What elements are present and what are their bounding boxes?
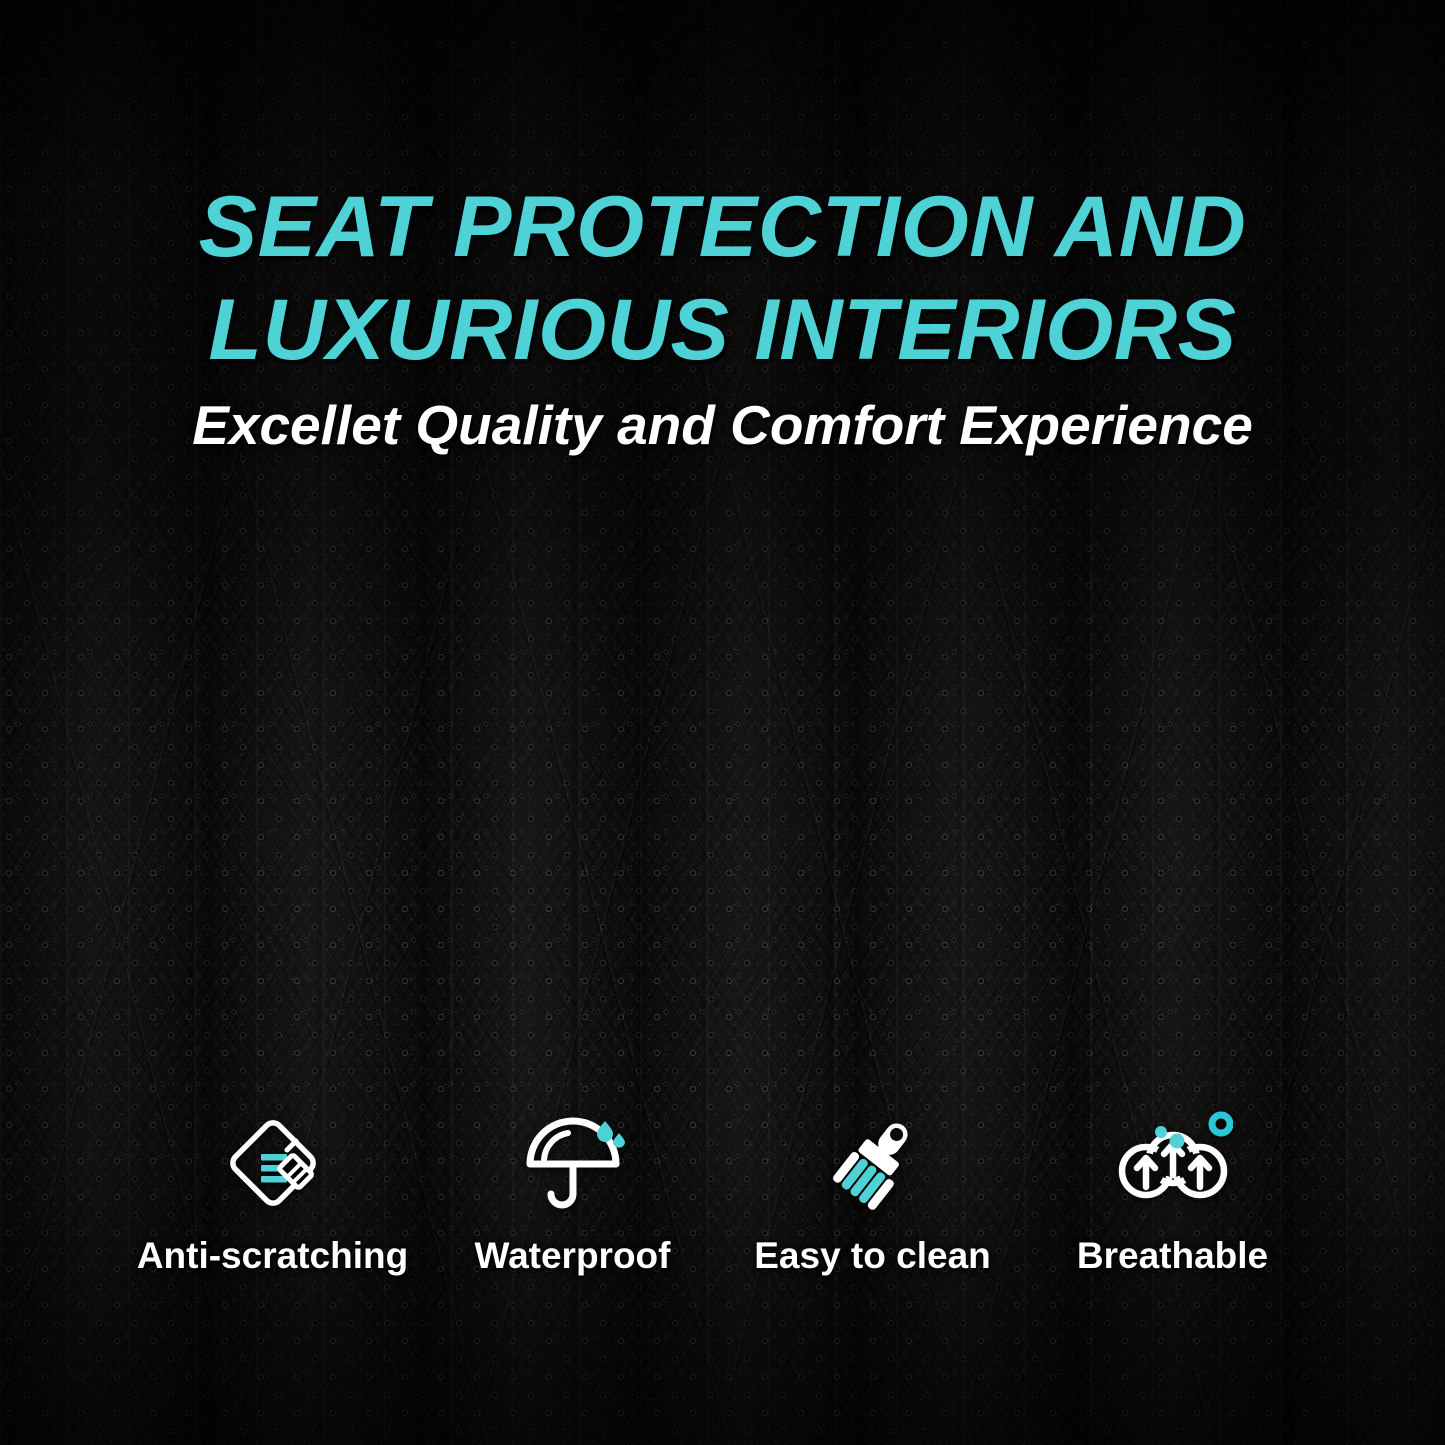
cleaning-brush-icon bbox=[817, 1105, 929, 1220]
feature-item-breathable: Breathable bbox=[1023, 1105, 1323, 1278]
feature-label: Anti-scratching bbox=[137, 1234, 408, 1278]
product-feature-banner: SEAT PROTECTION AND LUXURIOUS INTERIORS … bbox=[0, 0, 1445, 1445]
feature-label: Waterproof bbox=[475, 1234, 671, 1278]
headline-block: SEAT PROTECTION AND LUXURIOUS INTERIORS bbox=[0, 176, 1445, 382]
subheadline: Excellet Quality and Comfort Experience bbox=[0, 392, 1445, 458]
feature-item-easy-to-clean: Easy to clean bbox=[723, 1105, 1023, 1278]
airflow-clouds-icon bbox=[1113, 1105, 1233, 1220]
headline-line-1: SEAT PROTECTION AND bbox=[0, 176, 1445, 279]
feature-label: Breathable bbox=[1077, 1234, 1268, 1278]
scratch-resistant-icon bbox=[217, 1105, 329, 1220]
umbrella-raindrops-icon bbox=[517, 1105, 629, 1220]
feature-item-anti-scratching: Anti-scratching bbox=[123, 1105, 423, 1278]
feature-item-waterproof: Waterproof bbox=[423, 1105, 723, 1278]
feature-label: Easy to clean bbox=[754, 1234, 991, 1278]
headline-line-2: LUXURIOUS INTERIORS bbox=[0, 279, 1445, 382]
feature-list: Anti-scratching Waterproof bbox=[0, 1105, 1445, 1278]
